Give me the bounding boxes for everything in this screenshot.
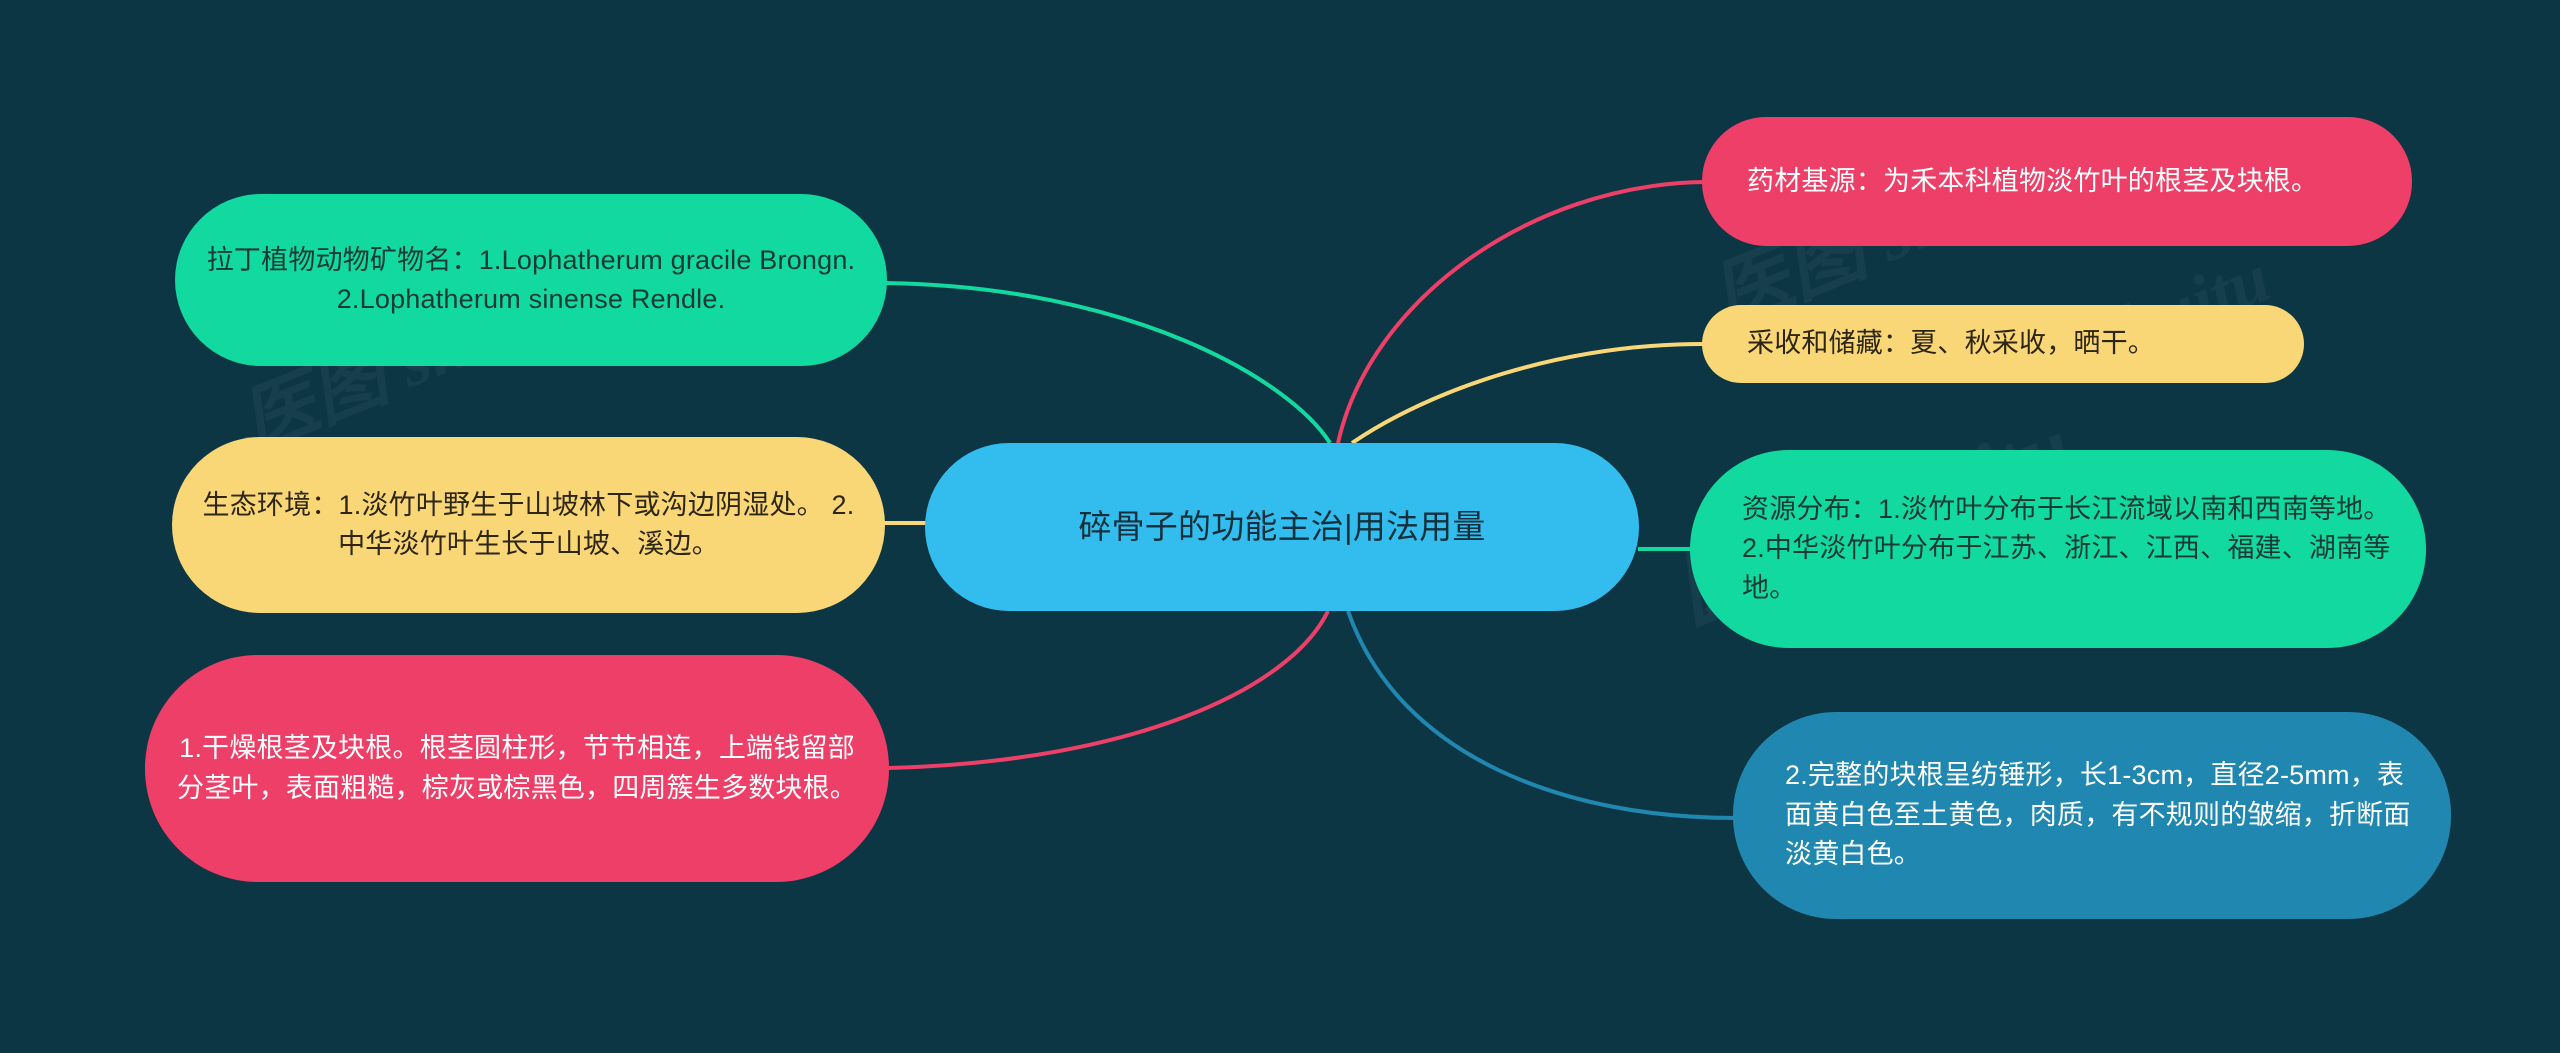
mindmap-node-distribution-label: 资源分布：1.淡竹叶分布于长江流域以南和西南等地。 2.中华淡竹叶分布于江苏、浙…: [1742, 490, 2400, 608]
edge-source: [1338, 182, 1703, 443]
mindmap-center-label: 碎骨子的功能主治|用法用量: [951, 504, 1613, 551]
mindmap-node-harvest-label: 采收和储藏：夏、秋采收，晒干。: [1747, 324, 2278, 363]
mindmap-node-habitat[interactable]: 生态环境：1.淡竹叶野生于山坡林下或沟边阴湿处。 2.中华淡竹叶生长于山坡、溪边…: [172, 437, 885, 613]
mindmap-node-latin-name-label: 拉丁植物动物矿物名：1.Lophatherum gracile Brongn. …: [201, 241, 861, 320]
mindmap-node-description-1-label: 1.干燥根茎及块根。根茎圆柱形，节节相连，上端钱留部分茎叶，表面粗糙，棕灰或棕黑…: [171, 729, 863, 808]
edge-harvest: [1352, 344, 1703, 443]
mindmap-node-description-2[interactable]: 2.完整的块根呈纺锤形，长1-3cm，直径2-5mm，表面黄白色至土黄色，肉质，…: [1733, 712, 2451, 919]
mindmap-node-description-1[interactable]: 1.干燥根茎及块根。根茎圆柱形，节节相连，上端钱留部分茎叶，表面粗糙，棕灰或棕黑…: [145, 655, 889, 882]
mindmap-node-source-label: 药材基源：为禾本科植物淡竹叶的根茎及块根。: [1747, 162, 2386, 201]
mindmap-node-distribution[interactable]: 资源分布：1.淡竹叶分布于长江流域以南和西南等地。 2.中华淡竹叶分布于江苏、浙…: [1690, 450, 2426, 648]
edge-desc-1: [888, 611, 1328, 768]
mindmap-node-habitat-label: 生态环境：1.淡竹叶野生于山坡林下或沟边阴湿处。 2.中华淡竹叶生长于山坡、溪边…: [198, 486, 859, 565]
mindmap-node-latin-name[interactable]: 拉丁植物动物矿物名：1.Lophatherum gracile Brongn. …: [175, 194, 887, 366]
edge-latin-name: [884, 283, 1330, 443]
mindmap-node-source[interactable]: 药材基源：为禾本科植物淡竹叶的根茎及块根。: [1702, 117, 2412, 246]
edge-desc-2: [1348, 611, 1735, 818]
mindmap-node-description-2-label: 2.完整的块根呈纺锤形，长1-3cm，直径2-5mm，表面黄白色至土黄色，肉质，…: [1785, 756, 2425, 874]
mindmap-canvas: 医图 shuitu 医图 shuitu shuitu 医图 shuitu 碎骨子…: [0, 0, 2560, 1053]
mindmap-node-harvest[interactable]: 采收和储藏：夏、秋采收，晒干。: [1702, 305, 2304, 383]
mindmap-center-node[interactable]: 碎骨子的功能主治|用法用量: [925, 443, 1639, 611]
